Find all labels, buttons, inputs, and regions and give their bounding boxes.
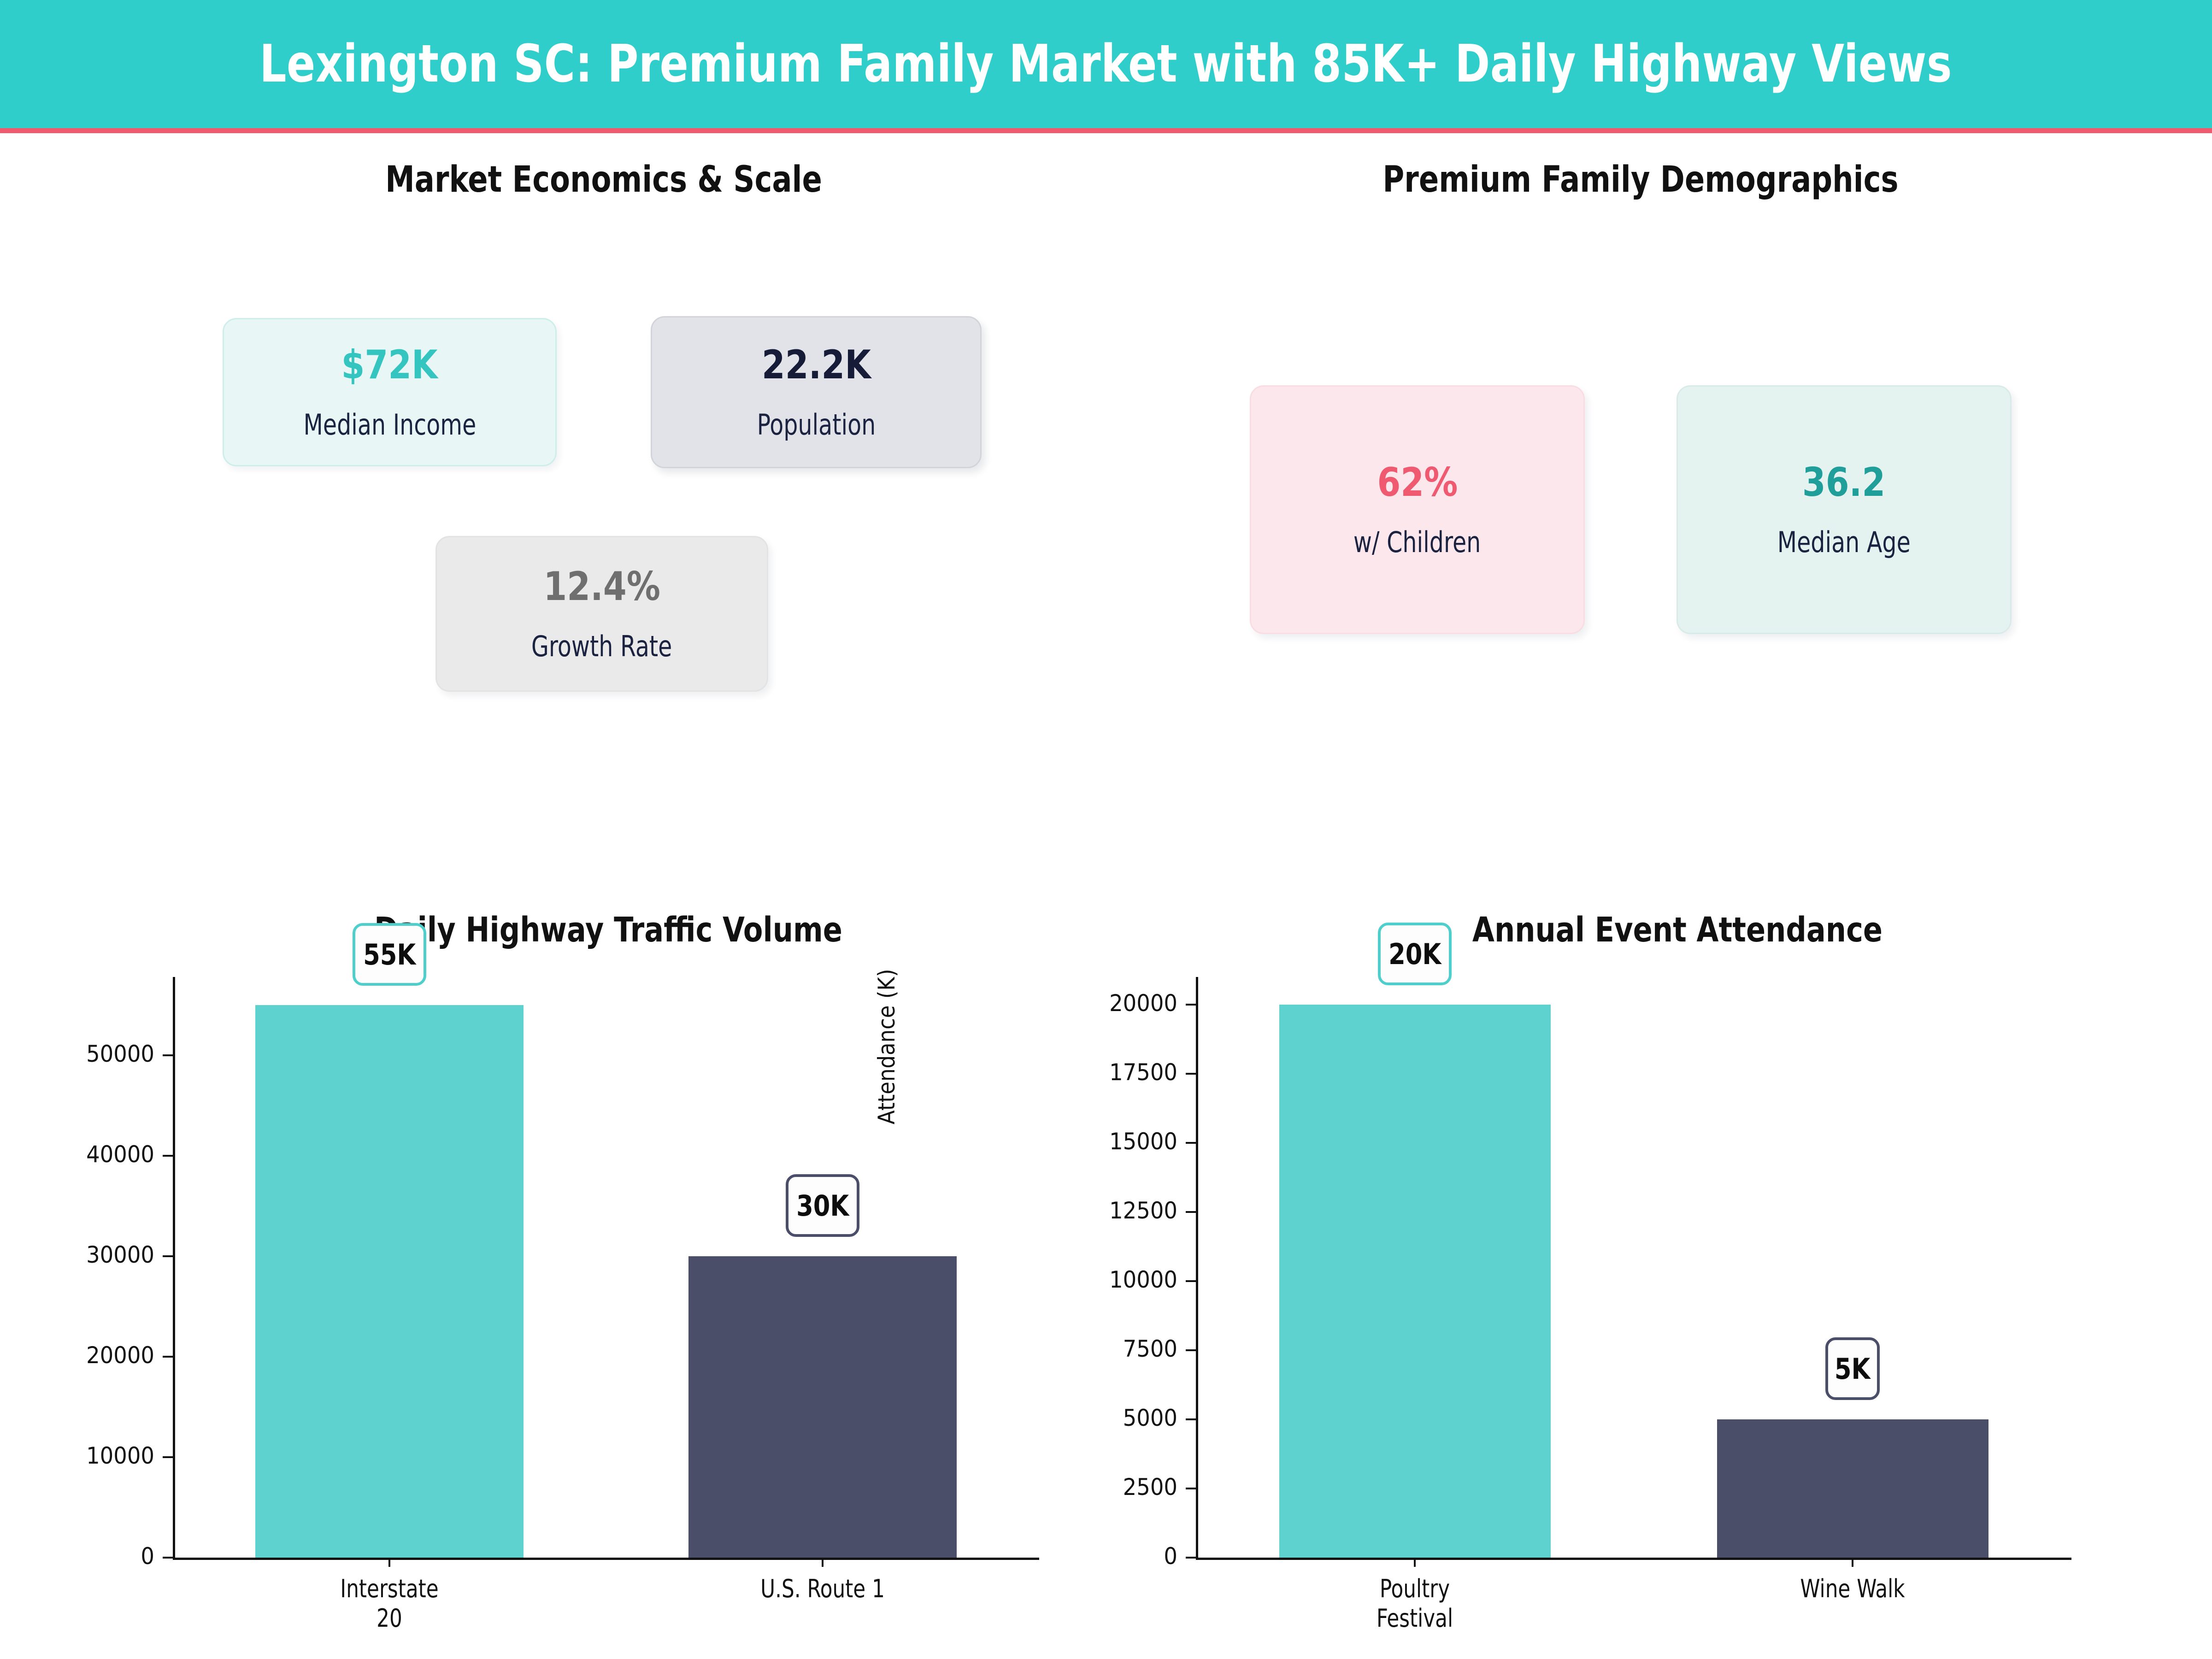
kpi-value: 12.4% (543, 567, 660, 606)
y-axis-tick (1186, 1349, 1196, 1351)
x-axis-tick (1414, 1558, 1416, 1567)
kpi-value: $72K (341, 345, 438, 385)
x-axis-tick-label: Poultry Festival (1249, 1574, 1581, 1633)
y-axis-tick-label: 15000 (920, 1128, 1177, 1155)
y-axis-tick-label: 20000 (0, 1342, 154, 1369)
kpi-card-median-age: 36.2 Median Age (1677, 385, 2012, 634)
bar-value-badge: 30K (786, 1174, 859, 1237)
y-axis-tick-label: 0 (0, 1543, 154, 1570)
y-axis-tick-label: 10000 (920, 1266, 1177, 1293)
kpi-card-with-children: 62% w/ Children (1250, 385, 1585, 634)
y-axis-tick (1186, 1280, 1196, 1282)
x-axis-tick-label: U.S. Route 1 (657, 1574, 988, 1604)
kpi-label: Median Age (1777, 528, 1911, 557)
kpi-label: Population (757, 411, 876, 439)
y-axis-tick (1186, 1418, 1196, 1420)
y-axis-tick (1186, 1004, 1196, 1006)
y-axis-tick (163, 1557, 173, 1559)
x-axis-tick-label: Wine Walk (1687, 1574, 2018, 1604)
y-axis-tick (163, 1255, 173, 1257)
y-axis-tick (163, 1356, 173, 1358)
page-title: Lexington SC: Premium Family Market with… (260, 34, 1953, 94)
kpi-value: 36.2 (1802, 463, 1885, 502)
bar (1279, 1005, 1551, 1558)
y-axis-tick-label: 5000 (920, 1405, 1177, 1431)
y-axis-title: Attendance (K) (873, 969, 900, 1125)
kpi-label: Median Income (303, 411, 476, 439)
y-axis-tick-label: 50000 (0, 1041, 154, 1067)
y-axis-tick (1186, 1488, 1196, 1489)
chart-title-traffic: Daily Highway Traffic Volume (190, 910, 1026, 950)
x-axis-line (1196, 1558, 2071, 1560)
kpi-value: 22.2K (761, 345, 871, 385)
bar-value-badge: 20K (1378, 923, 1452, 985)
y-axis-tick (163, 1155, 173, 1157)
bar-value-badge: 55K (353, 923, 426, 986)
y-axis-tick-label: 30000 (0, 1241, 154, 1268)
y-axis-tick (163, 1054, 173, 1056)
y-axis-tick (1186, 1557, 1196, 1559)
kpi-value: 62% (1377, 463, 1458, 502)
x-axis-tick (1852, 1558, 1853, 1567)
y-axis-tick-label: 20000 (920, 990, 1177, 1017)
y-axis-tick-label: 2500 (920, 1474, 1177, 1500)
kpi-card-population: 22.2K Population (651, 316, 982, 468)
bar (1717, 1419, 1988, 1558)
bar-value-badge: 5K (1825, 1337, 1880, 1400)
kpi-label: w/ Children (1353, 528, 1481, 557)
y-axis-tick (1186, 1142, 1196, 1144)
y-axis-tick-label: 12500 (920, 1197, 1177, 1224)
economics-panel-title: Market Economics & Scale (226, 159, 982, 200)
bar (255, 1005, 524, 1558)
x-axis-tick (822, 1558, 824, 1567)
y-axis-tick-label: 17500 (920, 1059, 1177, 1086)
header-accent-rule (0, 128, 2212, 133)
bar (688, 1256, 957, 1558)
x-axis-line (173, 1558, 1039, 1560)
x-axis-tick (388, 1558, 390, 1567)
kpi-card-growth-rate: 12.4% Growth Rate (435, 536, 768, 692)
demographics-panel-title: Premium Family Demographics (1263, 159, 2018, 200)
x-axis-tick-label: Interstate 20 (224, 1574, 555, 1633)
y-axis-tick-label: 0 (920, 1543, 1177, 1570)
y-axis-tick-label: 10000 (0, 1442, 154, 1469)
kpi-card-median-income: $72K Median Income (223, 318, 557, 466)
y-axis-line (173, 977, 175, 1558)
y-axis-tick-label: 7500 (920, 1335, 1177, 1362)
y-axis-line (1196, 977, 1198, 1558)
y-axis-tick (1186, 1211, 1196, 1213)
y-axis-tick (1186, 1073, 1196, 1075)
kpi-label: Growth Rate (531, 632, 672, 661)
y-axis-tick (163, 1456, 173, 1458)
header-bar: Lexington SC: Premium Family Market with… (0, 0, 2212, 128)
y-axis-tick-label: 40000 (0, 1141, 154, 1168)
